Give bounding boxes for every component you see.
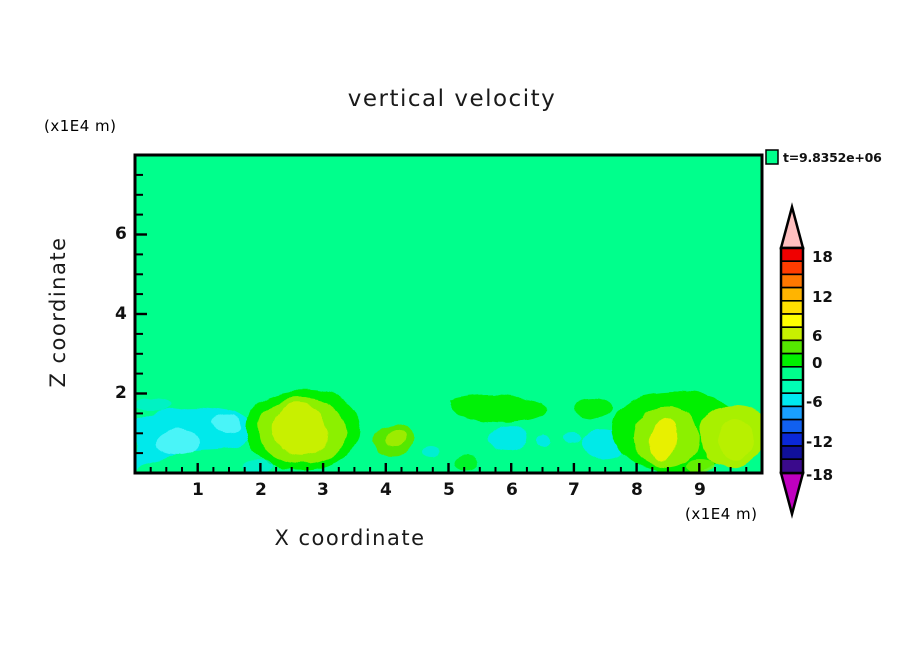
colorbar-tick-label-18: 18 [812,248,833,266]
x-tick-label-9: 9 [694,480,706,500]
colorbar-tick-label-0: 0 [812,354,822,372]
y-tick-label-6: 6 [115,224,127,244]
colorbar-bands [781,248,803,473]
contour-field [134,155,766,473]
y-tick-label-4: 4 [115,304,127,324]
x-tick-label-3: 3 [317,480,329,500]
x-tick-label-7: 7 [568,480,580,500]
colorbar-over-arrow [781,207,803,248]
colorbar-tick-label-6: 6 [812,327,822,345]
colorbar-tick-label-minus12: -12 [806,433,833,451]
colorbar-tick-label-minus6: -6 [806,393,823,411]
timestamp-swatch [766,150,778,164]
colorbar-tick-label-minus18: -18 [806,466,833,484]
x-tick-label-4: 4 [380,480,392,500]
x-tick-label-6: 6 [506,480,518,500]
contour-plot-canvas [0,0,904,654]
colorbar-under-arrow [781,473,803,514]
y-tick-label-2: 2 [115,383,127,403]
x-tick-label-5: 5 [443,480,455,500]
x-tick-label-1: 1 [192,480,204,500]
x-tick-label-2: 2 [255,480,267,500]
colorbar[interactable] [781,207,803,514]
x-tick-label-8: 8 [631,480,643,500]
colorbar-tick-label-12: 12 [812,288,833,306]
